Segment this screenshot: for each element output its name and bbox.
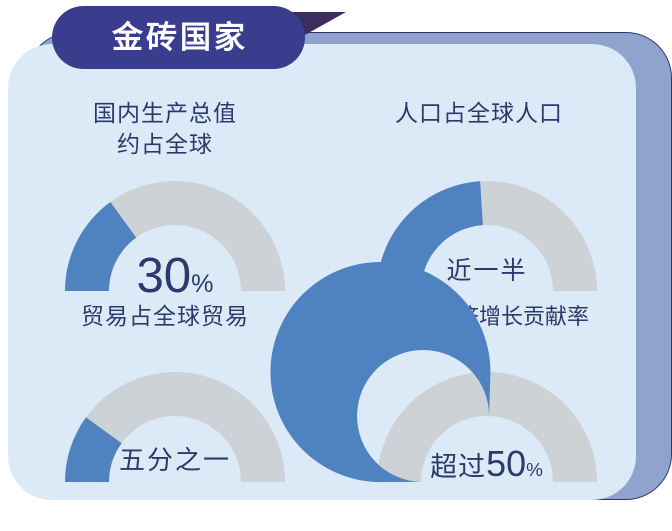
title-badge-label: 金砖国家 [109,22,248,53]
stat-cell-population: 人口占全球人口 近一半 [322,78,636,289]
stat-title: 国内生产总值 约占全球 [8,78,322,160]
stat-cell-gdp: 国内生产总值 约占全球 30% [8,78,322,289]
stat-value-suffix: % [526,460,544,481]
stat-value: 超过50% [372,446,602,482]
stat-value-prefix: 超过 [430,452,486,482]
stat-title: 贸易占全球贸易 [8,289,322,332]
stat-value-number: 50 [486,443,526,484]
stat-title: 人口占全球人口 [322,78,636,129]
brics-infographic: 金砖国家 国内生产总值 约占全球 30% 人口占全球人口 [0,0,672,531]
stats-grid: 国内生产总值 约占全球 30% 人口占全球人口 近一半 贸易 [8,78,636,500]
stat-value: 五分之一 [60,447,290,473]
stat-cell-growth-contribution: 对世界经济增长贡献率 超过50% [322,289,636,500]
title-badge: 金砖国家 [52,6,305,69]
